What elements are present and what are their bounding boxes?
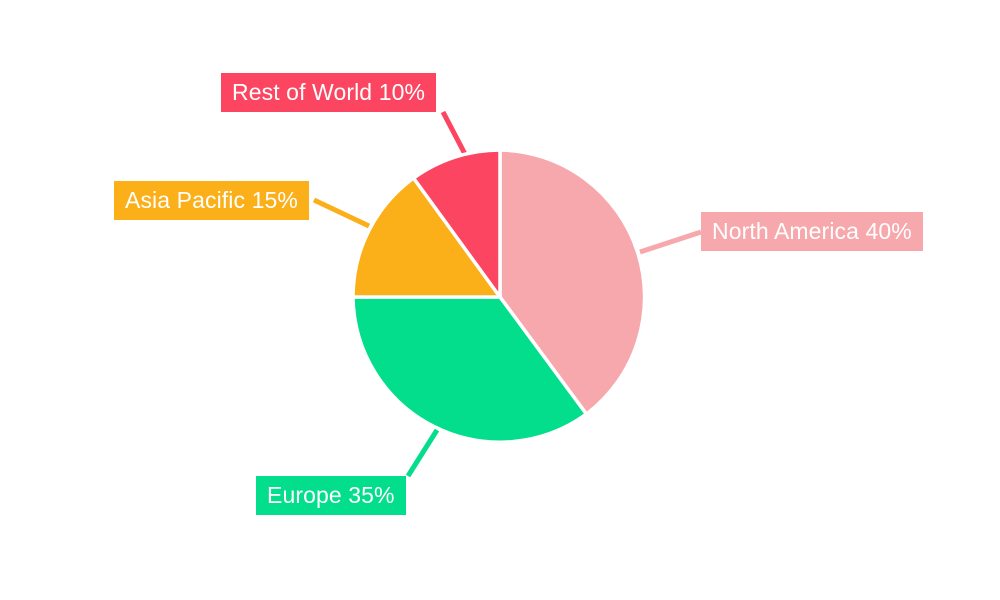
- pie-label-north-america[interactable]: North America 40%: [701, 212, 923, 251]
- pie-chart-figure: Rest of World 10% Asia Pacific 15% North…: [0, 0, 1000, 600]
- pie-chart-canvas: [0, 0, 1000, 600]
- leader-line-rest-of-world: [443, 112, 466, 156]
- pie-label-europe[interactable]: Europe 35%: [256, 476, 406, 515]
- pie-label-europe-text: Europe 35%: [267, 484, 395, 507]
- pie-label-north-america-text: North America 40%: [712, 220, 912, 243]
- pie-label-asia-pacific[interactable]: Asia Pacific 15%: [114, 181, 309, 220]
- pie-slices: [353, 150, 645, 442]
- leader-line-north-america: [640, 232, 701, 252]
- pie-label-asia-pacific-text: Asia Pacific 15%: [125, 189, 298, 212]
- pie-label-rest-of-world[interactable]: Rest of World 10%: [221, 73, 436, 112]
- leader-line-asia-pacific: [314, 200, 369, 226]
- leader-line-europe: [408, 430, 437, 476]
- pie-label-rest-of-world-text: Rest of World 10%: [232, 81, 425, 104]
